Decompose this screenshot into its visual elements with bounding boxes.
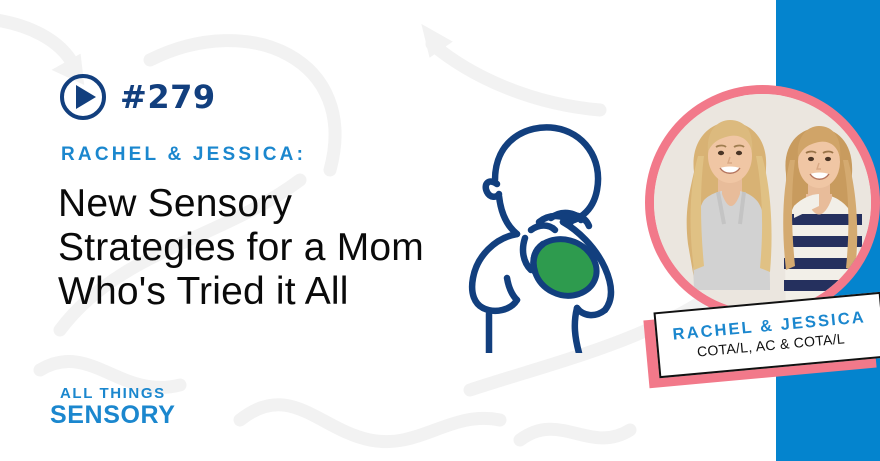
episode-number: #279 <box>120 78 216 116</box>
guest-photo-circle <box>645 85 880 320</box>
curved-arrow-up-left-stem <box>432 44 600 110</box>
episode-title-line-1: New Sensory <box>58 182 488 226</box>
podcast-episode-graphic: #279 RACHEL & JESSICA: New Sensory Strat… <box>0 0 880 461</box>
episode-title: New Sensory Strategies for a Mom Who's T… <box>58 182 488 314</box>
play-circle-icon <box>60 74 106 120</box>
photo-clip <box>654 94 871 311</box>
guest-nameplate: RACHEL & JESSICA COTA/L, AC & COTA/L <box>636 296 880 388</box>
photo-subject-right <box>783 126 862 311</box>
guest-eyebrow: RACHEL & JESSICA: <box>61 144 306 166</box>
logo-line-1: ALL THINGS <box>50 386 176 402</box>
episode-title-line-2: Strategies for a Mom <box>58 226 488 270</box>
logo-line-2: SENSORY <box>50 402 176 429</box>
play-triangle-icon <box>76 85 96 109</box>
wave-squiggle-3 <box>40 361 180 387</box>
episode-number-row: #279 <box>60 74 216 120</box>
guest-photo-rachel-and-jessica <box>654 94 871 311</box>
photo-subject-left <box>687 120 772 290</box>
all-things-sensory-logo: ALL THINGS SENSORY <box>50 386 176 429</box>
arrow-head-up-left <box>416 24 455 61</box>
episode-title-line-3: Who's Tried it All <box>58 270 488 314</box>
curved-arrow-down-right-stem <box>0 18 74 66</box>
wave-squiggle <box>240 405 500 442</box>
wave-squiggle-2 <box>520 429 630 440</box>
